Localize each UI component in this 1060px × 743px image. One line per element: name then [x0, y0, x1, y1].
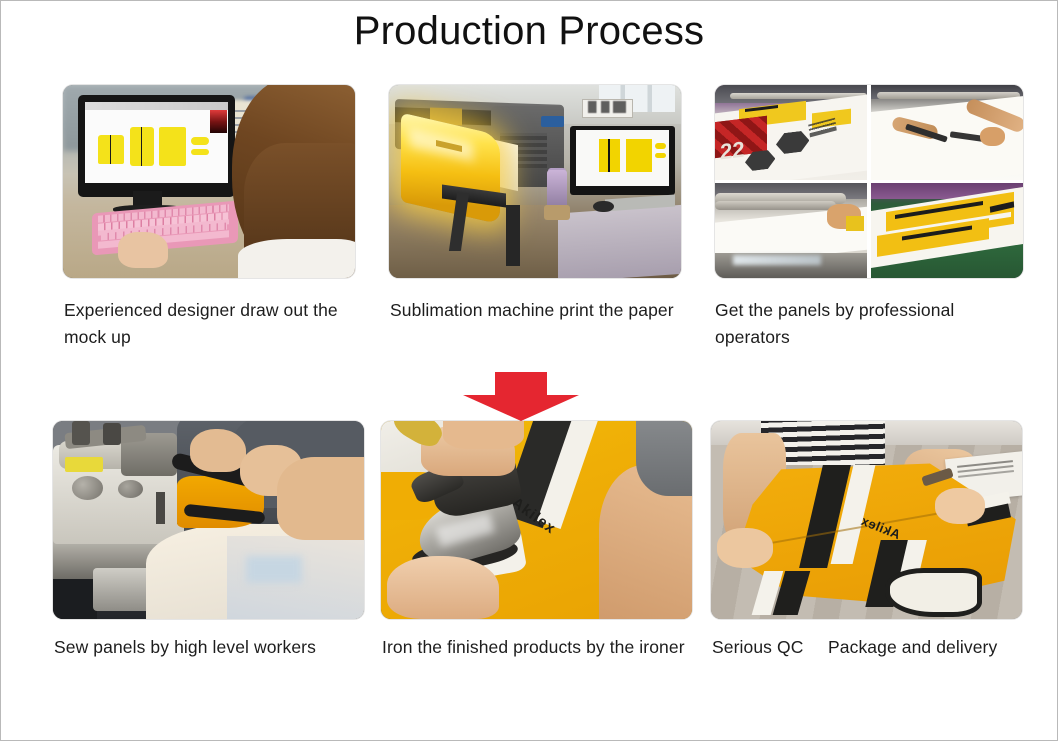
printer-display: [541, 116, 564, 128]
printer-leg-right: [506, 205, 521, 267]
page-title: Production Process: [1, 9, 1057, 54]
panel-preview-d: [655, 153, 667, 159]
inspector-hand-left: [717, 528, 773, 568]
panel-mockup-c: [191, 137, 209, 145]
ironer-hand-lower: [387, 556, 499, 619]
panel-preview-b: [626, 139, 652, 172]
color-swatch: [210, 110, 226, 133]
photo-ironing: Akilex: [381, 421, 692, 619]
designer-hand: [118, 232, 168, 269]
water-bottle: [547, 170, 567, 209]
wall-sign-text: [588, 101, 626, 113]
needle-assembly: [156, 492, 165, 524]
worker-arm: [277, 457, 364, 540]
collage-quadrant-cutting: [871, 85, 1023, 180]
panel-mockup-b: [159, 127, 185, 166]
fabric-print: [246, 556, 302, 584]
panel-number: 22: [720, 136, 744, 156]
ironer-forearm: [443, 421, 524, 449]
caption-step-4: Sew panels by high level workers: [54, 634, 374, 661]
design-software-toolbar: [85, 102, 228, 110]
panel-mockup-d: [191, 149, 209, 156]
yellow-fabric-edge: [846, 216, 864, 231]
tape-roll: [544, 205, 570, 220]
panel-preview-a-stripe: [608, 139, 610, 172]
jersey-collar: [885, 568, 982, 618]
caption-step-5: Iron the finished products by the ironer: [382, 634, 690, 661]
photo-designer-mockup: [63, 85, 355, 278]
collage-quadrant-finished-panels: [871, 183, 1023, 278]
press-roller-lower: [715, 201, 836, 210]
jersey-mockup-stripe: [110, 135, 111, 164]
down-arrow: [463, 372, 579, 422]
worker-hand-left: [190, 429, 246, 473]
press-reflection: [733, 255, 821, 264]
arrow-shaft: [495, 372, 547, 396]
panel-preview-c: [655, 143, 667, 149]
photo-sublimation-printer: [389, 85, 681, 278]
collage-quadrant-heat-press: [715, 183, 867, 278]
photo-panel-collage: 22: [715, 85, 1023, 278]
caption-step-7: Package and delivery: [828, 634, 1038, 661]
photo-qc-packaging: Akilex: [711, 421, 1022, 619]
photo-sewing: [53, 421, 364, 619]
caption-step-3: Get the panels by professional operators: [715, 297, 1015, 351]
caption-step-1: Experienced designer draw out the mock u…: [64, 297, 366, 351]
panel-mockup-a-stripe: [141, 127, 143, 166]
tension-knob-a: [72, 476, 103, 500]
caption-step-6: Serious QC: [712, 634, 822, 661]
machine-label: [65, 457, 102, 473]
collage-divider-horizontal: [715, 180, 1023, 184]
ironer-sleeve: [636, 421, 692, 496]
designer-shirt: [238, 239, 355, 278]
thread-spool-b: [103, 423, 122, 445]
jersey-mockup-front: [98, 135, 124, 164]
computer-desk: [558, 204, 681, 278]
monitor-screen: [576, 130, 669, 186]
thread-spool-a: [72, 421, 91, 445]
inspector-hand-right: [935, 488, 985, 524]
production-process-page: Production Process: [0, 0, 1058, 741]
arrow-head: [463, 395, 579, 421]
operator-hand: [980, 127, 1004, 146]
collage-quadrant-printed-panels: 22: [715, 85, 867, 180]
caption-step-2: Sublimation machine print the paper: [390, 297, 690, 324]
